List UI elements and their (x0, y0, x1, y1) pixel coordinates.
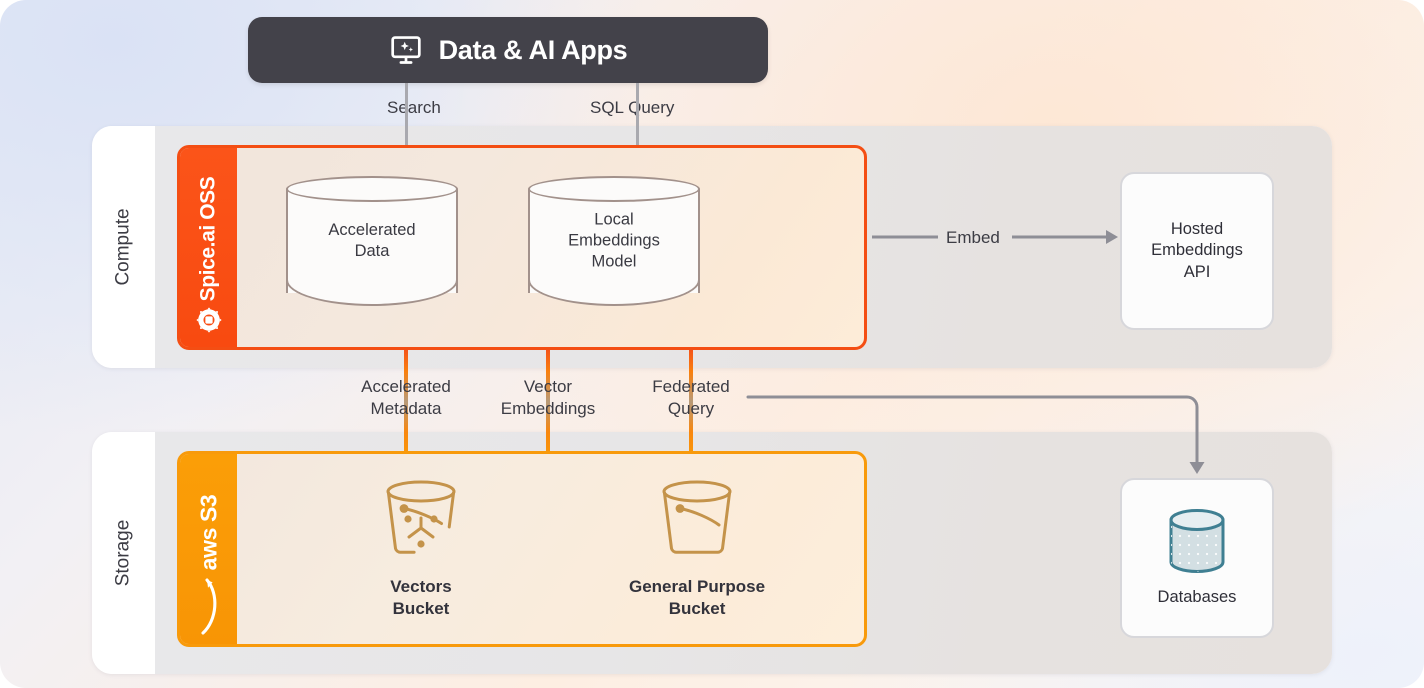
lane-compute-title: Compute (92, 126, 155, 368)
aws-s3-brand-label: aws S3 (195, 494, 222, 570)
appbar-title: Data & AI Apps (439, 35, 628, 66)
label-line: Model (536, 252, 692, 273)
lane-storage-title: Storage (92, 432, 155, 674)
database-cylinder-icon (1160, 507, 1234, 575)
label-line: Accelerated (361, 376, 451, 398)
aws-wordmark: aws (195, 528, 221, 570)
label-line: Accelerated (294, 220, 450, 241)
cylinder-local-embeddings-model: Local Embeddings Model (528, 176, 700, 306)
data-ai-apps-bar[interactable]: Data & AI Apps (248, 17, 768, 83)
node-local-embeddings-model[interactable]: Local Embeddings Model (528, 176, 700, 306)
aws-swoosh-icon (196, 574, 222, 636)
label-line: API (1151, 262, 1243, 283)
spice-card-body: Accelerated Data Local Embeddings Model (237, 148, 864, 347)
node-vectors-bucket[interactable]: Vectors Bucket (375, 478, 467, 620)
node-accelerated-data[interactable]: Accelerated Data (286, 176, 458, 306)
lane-storage-title-text: Storage (113, 520, 135, 587)
node-general-purpose-bucket[interactable]: General Purpose Bucket (629, 478, 765, 620)
cylinder-accelerated-data: Accelerated Data (286, 176, 458, 306)
label-line: Data (294, 241, 450, 262)
label-line: Local (536, 209, 692, 230)
spice-ai-oss-card[interactable]: Spice.ai OSS Accelerated Data (177, 145, 867, 350)
spice-ai-oss-brand-label: Spice.ai OSS (197, 176, 221, 301)
node-accelerated-data-label: Accelerated Data (286, 220, 458, 262)
aws-s3-brand-strip: aws S3 (180, 454, 237, 644)
label-line: Bucket (629, 598, 765, 620)
databases-label: Databases (1158, 587, 1237, 608)
connector-label-search: Search (387, 98, 441, 118)
label-line: Embeddings (536, 230, 692, 251)
label-line: Federated (652, 376, 730, 398)
hosted-embeddings-api-label: Hosted Embeddings API (1151, 219, 1243, 282)
diagram-canvas: Data & AI Apps Search SQL Query Compute … (0, 0, 1424, 688)
vectors-bucket-icon (375, 478, 467, 566)
label-line: Vectors (390, 576, 451, 598)
spice-ai-oss-brand-strip: Spice.ai OSS (180, 148, 237, 347)
node-general-purpose-bucket-label: General Purpose Bucket (629, 576, 765, 620)
arrow-label-embed: Embed (946, 228, 1000, 248)
connector-search-line (405, 83, 408, 145)
label-line: Metadata (361, 398, 451, 420)
connector-sqlquery-line (636, 83, 639, 145)
label-line: Hosted (1151, 219, 1243, 240)
node-local-embeddings-model-label: Local Embeddings Model (528, 209, 700, 272)
databases-box[interactable]: Databases (1120, 478, 1274, 638)
connector-label-federated-query: Federated Query (652, 376, 730, 420)
lane-compute-title-text: Compute (113, 208, 135, 285)
label-line: General Purpose (629, 576, 765, 598)
monitor-sparkle-icon (389, 33, 423, 67)
label-line: Query (652, 398, 730, 420)
s3-service-name: S3 (195, 494, 221, 521)
connector-label-accelerated-metadata: Accelerated Metadata (361, 376, 451, 420)
general-purpose-bucket-icon (651, 478, 743, 566)
s3-card-body: Vectors Bucket General Purpose Bucket (237, 454, 864, 644)
node-vectors-bucket-label: Vectors Bucket (390, 576, 451, 620)
aws-s3-card[interactable]: aws S3 (177, 451, 867, 647)
connector-label-vector-embeddings: Vector Embeddings (501, 376, 596, 420)
label-line: Embeddings (501, 398, 596, 420)
label-line: Embeddings (1151, 240, 1243, 261)
hosted-embeddings-api-box[interactable]: Hosted Embeddings API (1120, 172, 1274, 330)
label-line: Vector (501, 376, 596, 398)
connector-label-sqlquery: SQL Query (590, 98, 674, 118)
gear-icon (194, 305, 224, 335)
label-line: Bucket (390, 598, 451, 620)
